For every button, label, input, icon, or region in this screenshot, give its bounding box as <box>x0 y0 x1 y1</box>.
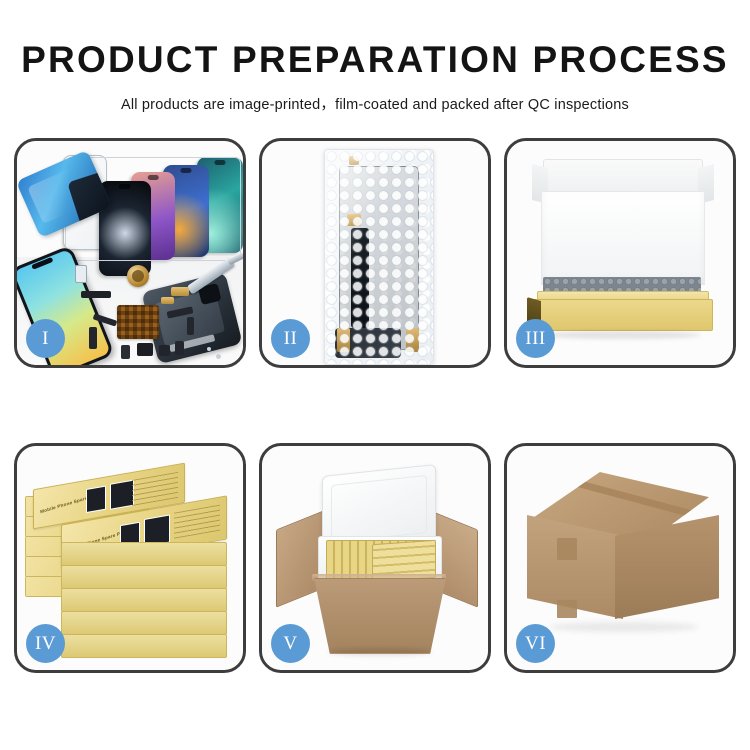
speaker-module <box>127 265 149 287</box>
step-panel-1: I <box>14 138 246 368</box>
step-badge-4: IV <box>26 624 65 663</box>
small-components-cluster <box>75 265 215 365</box>
page-subtitle: All products are image-printed，film-coat… <box>0 93 750 114</box>
bubble-wrap-bag <box>324 149 434 365</box>
chip-c <box>175 341 184 355</box>
steps-grid: I II <box>14 138 736 684</box>
flex-cable-a <box>93 313 118 326</box>
front-box-4 <box>61 611 227 635</box>
front-box-1 <box>61 542 227 566</box>
step-panel-2: II <box>259 138 491 368</box>
box-shadow <box>545 331 701 339</box>
box-window-1a <box>86 486 106 514</box>
chip-d <box>121 345 130 359</box>
header: PRODUCT PREPARATION PROCESS All products… <box>0 0 750 114</box>
box-front-wall <box>533 299 713 331</box>
front-box-2 <box>61 565 227 589</box>
front-box-3 <box>61 588 227 612</box>
step-panel-5: V <box>259 443 491 673</box>
carton-front-wall <box>314 578 446 654</box>
front-box-stack <box>61 542 225 660</box>
flex-cable-b <box>89 327 97 349</box>
box-spec-lines-2 <box>174 505 220 539</box>
chip-b <box>159 345 170 356</box>
gold-contact-grid <box>117 305 159 339</box>
sealed-carton <box>527 472 719 640</box>
step-panel-4: Mobile Phone Spare Parts Mobile Phone Sp… <box>14 443 246 673</box>
step-badge-3: III <box>516 319 555 358</box>
plastic-gloss <box>325 150 433 364</box>
open-carton-with-foam <box>276 462 478 654</box>
gold-pad-1 <box>171 287 189 296</box>
battery-connector <box>81 291 111 298</box>
step-panel-3: III <box>504 138 736 368</box>
front-box-5 <box>61 634 227 658</box>
carton-shadow <box>328 648 432 656</box>
flex-cable-d <box>187 317 194 335</box>
carton-shadow <box>549 622 699 632</box>
step-badge-6: VI <box>516 624 555 663</box>
box-spec-lines-1 <box>132 472 178 506</box>
chip-a <box>137 343 153 356</box>
page-title: PRODUCT PREPARATION PROCESS <box>0 41 750 78</box>
gold-pad-2 <box>161 297 174 304</box>
step-badge-2: II <box>271 319 310 358</box>
sim-tray <box>75 265 87 283</box>
screw-2 <box>207 347 211 351</box>
carton-tab-lower <box>557 600 577 618</box>
product-preparation-infographic: PRODUCT PREPARATION PROCESS All products… <box>0 0 750 750</box>
box-window-1b <box>110 480 134 510</box>
white-foam-sheet <box>541 191 705 285</box>
step-badge-1: I <box>26 319 65 358</box>
step-badge-5: V <box>271 624 310 663</box>
step-panel-6: VI <box>504 443 736 673</box>
screw-1 <box>216 354 221 359</box>
open-yellow-box <box>529 159 715 339</box>
carton-tab-upper <box>557 538 577 560</box>
